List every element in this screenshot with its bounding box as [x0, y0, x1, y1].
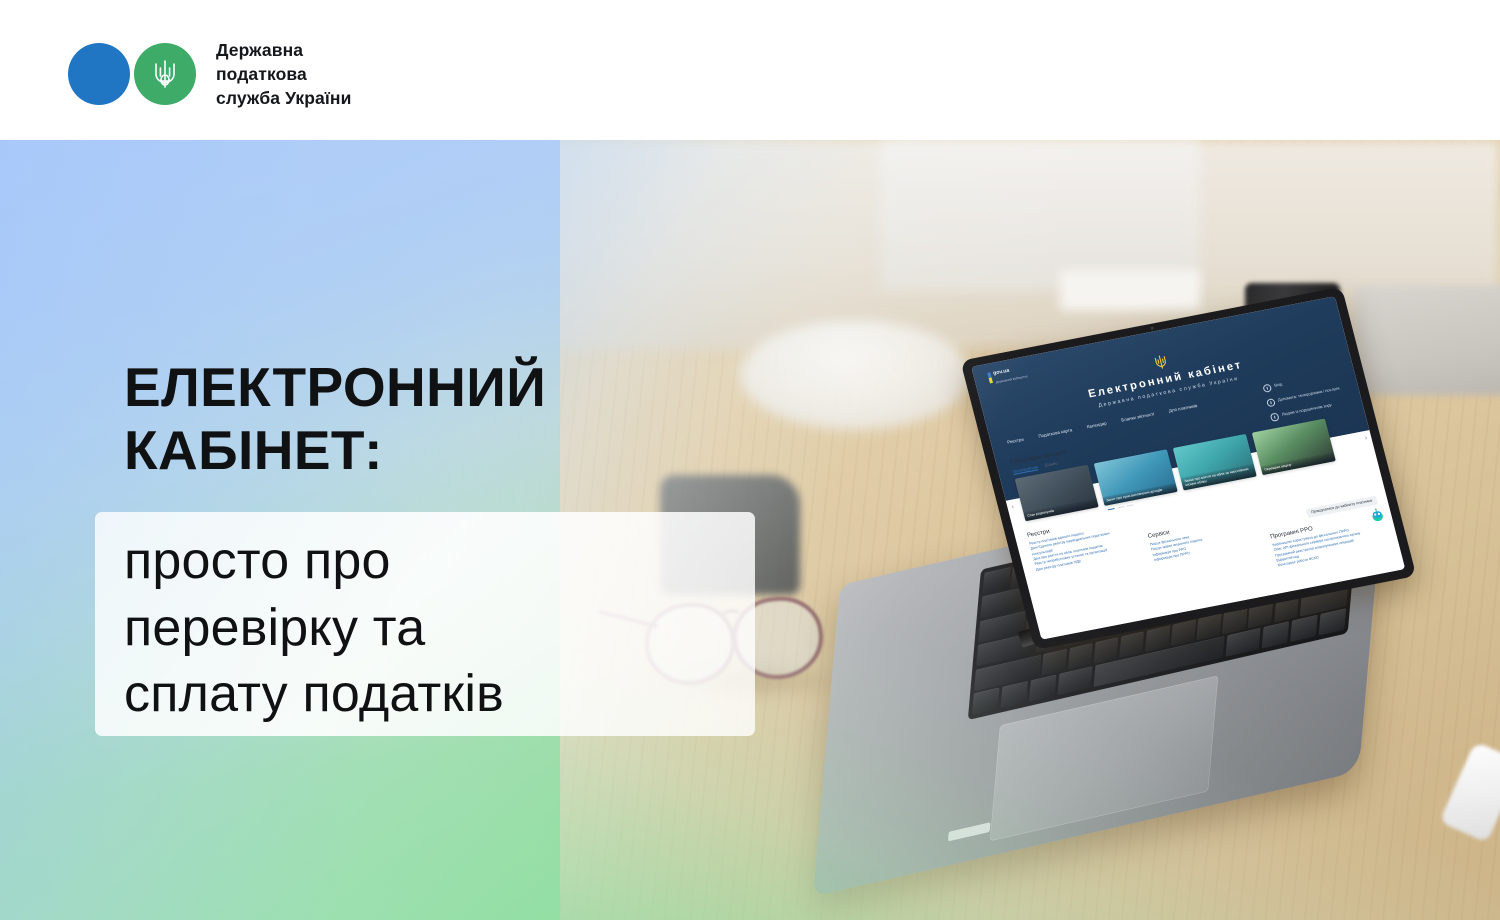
key — [983, 567, 1011, 594]
key — [1145, 625, 1170, 652]
nav-item-forms[interactable]: Бланки звітності — [1121, 411, 1155, 422]
eye-icon — [1270, 413, 1280, 422]
poster-canvas: Державна податкова служба України — [0, 0, 1500, 920]
key — [1119, 631, 1144, 658]
section-services: Сервіси Пошук фіскального чека Пошук мар… — [1147, 515, 1248, 563]
carousel-card-caption: Заява про взяття на облік за неосновним … — [1180, 464, 1256, 490]
headline-block: ЕЛЕКТРОННИЙ КАБІНЕТ: просто про перевірк… — [0, 140, 900, 920]
tab-business[interactable]: Бізнес — [1044, 460, 1058, 467]
utility-label: Вхід — [1274, 381, 1283, 388]
site-trident-icon — [1152, 352, 1169, 371]
carousel-card-caption: Стан розрахунків — [1023, 499, 1098, 521]
trident-icon — [152, 57, 178, 91]
ukraine-flag-icon — [987, 372, 993, 383]
carousel-dot[interactable] — [1108, 508, 1115, 511]
chevron-left-icon[interactable]: ‹ — [1011, 503, 1015, 510]
question-icon — [1266, 398, 1276, 407]
key — [1318, 608, 1346, 635]
carousel-dot[interactable] — [1126, 504, 1133, 507]
nav-item-calendar[interactable]: Календар — [1086, 421, 1107, 430]
section-registries: Реєстри Реєстр платників єдиного податку… — [1027, 514, 1132, 572]
key — [1225, 628, 1261, 657]
key — [1068, 643, 1093, 670]
carousel-card-caption: Запит про суми виплачених доходів — [1103, 483, 1178, 505]
org-name: Державна податкова служба України — [216, 38, 351, 110]
webcam-icon — [1150, 326, 1154, 329]
carousel-dot[interactable] — [1117, 506, 1124, 509]
chevron-right-icon[interactable]: › — [1364, 434, 1368, 441]
nav-item-tax-map[interactable]: Податкова карта — [1038, 427, 1073, 438]
key — [1057, 666, 1093, 695]
key — [1042, 648, 1067, 675]
brand-logo: Державна податкова служба України — [68, 38, 351, 110]
key — [1290, 615, 1318, 642]
carousel-card-caption: Перевірка акцизу — [1261, 453, 1336, 475]
carousel-dots — [1108, 504, 1134, 511]
key — [1262, 621, 1290, 648]
nav-item-registries[interactable]: Реєстри — [1007, 437, 1025, 445]
nav-item-for-payers[interactable]: Для платників — [1168, 403, 1197, 413]
key — [1093, 637, 1118, 664]
headline-subtitle: просто про перевірку та сплату податків — [124, 528, 744, 728]
logo-green-circle — [134, 43, 196, 105]
info-icon — [1262, 384, 1272, 393]
key — [1171, 619, 1196, 646]
govua-logo-text: gov.ua — [993, 369, 1011, 378]
key — [1000, 681, 1028, 708]
laptop-deck-notch — [948, 822, 991, 841]
headline-kicker: ЕЛЕКТРОННИЙ КАБІНЕТ: — [124, 356, 764, 481]
utility-label: Людям із порушенням зору — [1281, 402, 1332, 417]
laptop-screen: gov.ua Державний вебпортал Електронний к… — [971, 296, 1405, 639]
key — [972, 688, 1000, 715]
key — [1029, 675, 1057, 702]
section-programmatic-rro: Програмні РРО Керівництво користувача до… — [1270, 513, 1388, 569]
logo-blue-circle — [68, 43, 130, 105]
brand-header: Державна податкова служба України — [0, 0, 1500, 140]
